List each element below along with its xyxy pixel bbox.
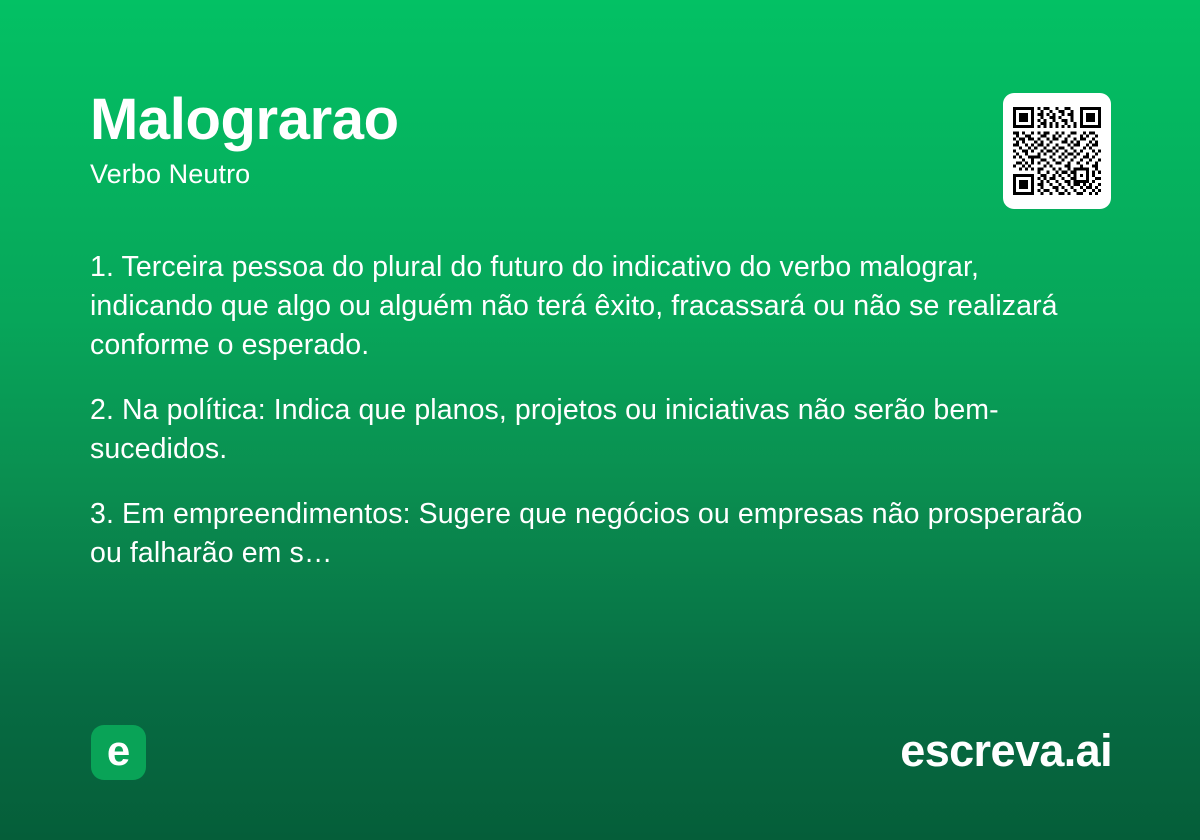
definition-card: Malograrao Verbo Neutro — [0, 0, 1200, 840]
definitions-list: 1. Terceira pessoa do plural do futuro d… — [90, 248, 1090, 573]
qr-code-icon — [1013, 107, 1101, 195]
card-header: Malograrao Verbo Neutro — [90, 88, 1110, 190]
page-title: Malograrao — [90, 88, 1110, 152]
brand-logo-glyph: e — [107, 730, 130, 772]
word-class-label: Verbo Neutro — [90, 158, 1110, 190]
brand-wordmark: escreva.ai — [900, 723, 1112, 779]
qr-code-panel[interactable] — [1003, 93, 1111, 209]
definition-item: 3. Em empreendimentos: Sugere que negóci… — [90, 495, 1090, 573]
definition-item: 2. Na política: Indica que planos, proje… — [90, 391, 1090, 469]
brand-logo[interactable]: e — [91, 725, 146, 780]
definition-item: 1. Terceira pessoa do plural do futuro d… — [90, 248, 1090, 365]
